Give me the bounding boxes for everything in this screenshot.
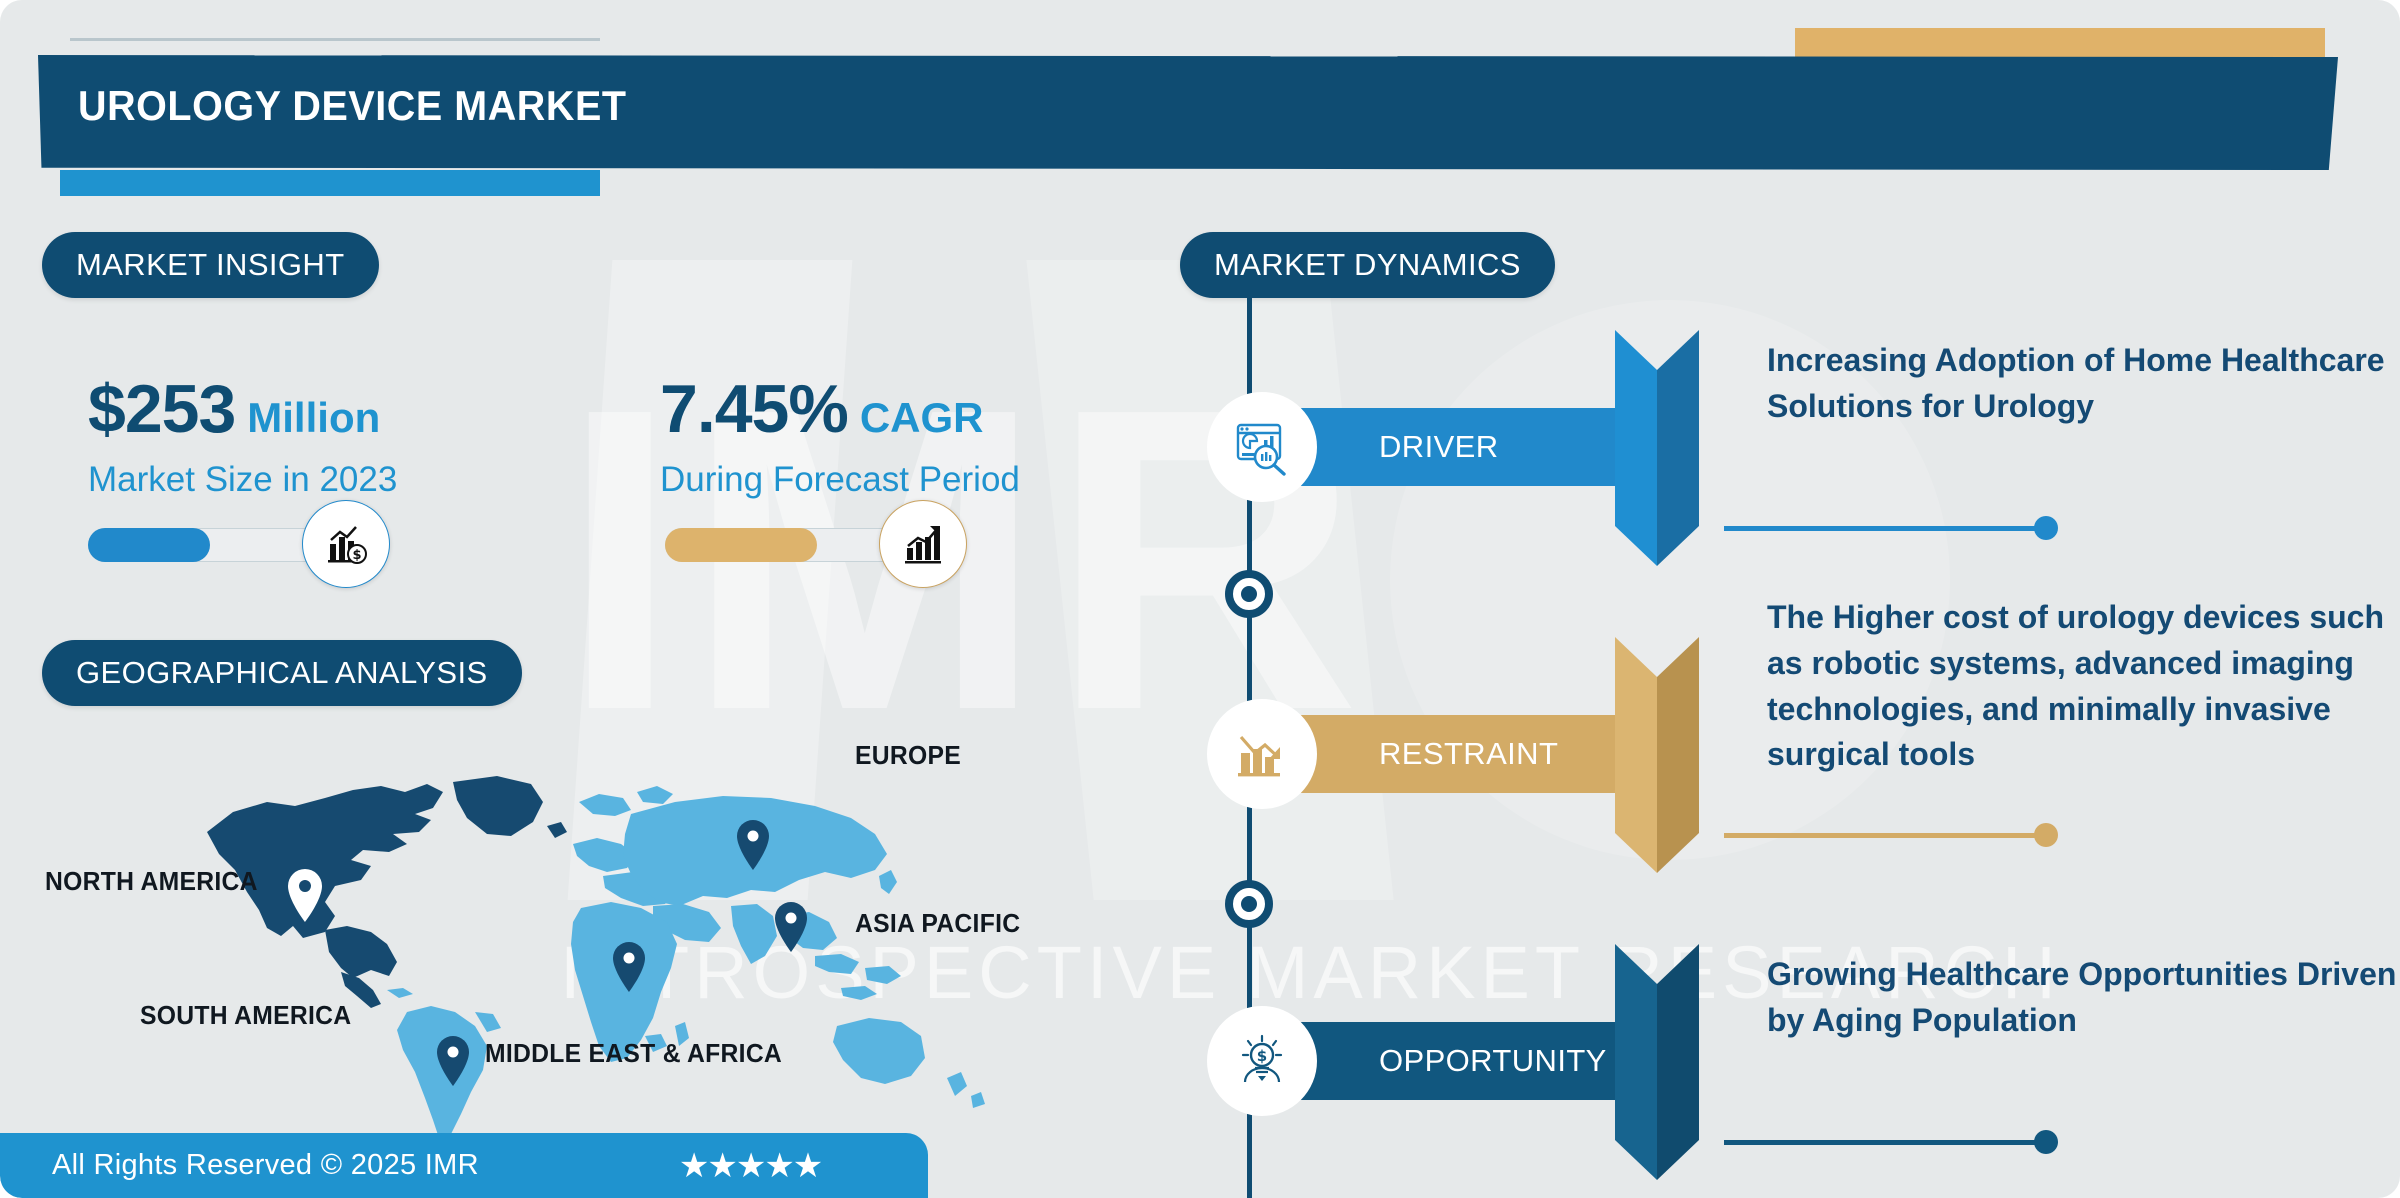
stat-subtitle: During Forecast Period [660, 460, 1020, 500]
star-rating-icon: ★★★★★ [679, 1146, 821, 1186]
restraint-label: RESTRAINT [1379, 736, 1558, 772]
spine-node-2 [1225, 880, 1273, 928]
lightbulb-dollar-icon: $ [1207, 1006, 1317, 1116]
header-gold-accent [1795, 28, 2325, 60]
driver-label: DRIVER [1379, 429, 1499, 465]
stat-value: $253 [88, 370, 235, 448]
restraint-endpoint-dot [2034, 823, 2058, 847]
market-dynamics-pill: MARKET DYNAMICS [1180, 232, 1555, 298]
stat-unit: Million [247, 394, 380, 442]
progress-fill [88, 528, 210, 562]
map-label-europe: EUROPE [855, 740, 961, 771]
header-thin-line [70, 38, 600, 41]
stat-subtitle: Market Size in 2023 [88, 460, 397, 500]
map-label-south-america: SOUTH AMERICA [140, 1000, 351, 1031]
header-blue-accent [60, 170, 600, 196]
page-title: UROLOGY DEVICE MARKET [78, 82, 627, 130]
svg-text:$: $ [1257, 1047, 1267, 1065]
market-insight-pill: MARKET INSIGHT [42, 232, 379, 298]
map-label-middle-east-africa: MIDDLE EAST & AFRICA [485, 1038, 782, 1069]
cagr-progress [665, 528, 915, 562]
stat-unit: CAGR [860, 394, 984, 442]
opportunity-stem [1724, 1140, 2054, 1145]
world-map [175, 740, 1035, 1140]
market-size-progress: $ [88, 528, 338, 562]
dashboard-analytics-search-icon [1207, 392, 1317, 502]
restraint-stem [1724, 833, 2054, 838]
geographical-analysis-pill: GEOGRAPHICAL ANALYSIS [42, 640, 522, 706]
growth-chart-arrow-icon [879, 500, 967, 588]
background-band-right [1026, 260, 1393, 900]
opportunity-chevron-icon [1615, 944, 1699, 1180]
driver-chevron-icon [1615, 330, 1699, 566]
progress-fill [665, 528, 817, 562]
opportunity-endpoint-dot [2034, 1130, 2058, 1154]
driver-endpoint-dot [2034, 516, 2058, 540]
bar-chart-dollar-icon: $ [302, 500, 390, 588]
declining-bar-chart-icon [1207, 699, 1317, 809]
infographic-canvas: IMR INTROSPECTIVE MARKET RESEARCH UROLOG… [0, 0, 2400, 1198]
copyright-text: All Rights Reserved © 2025 IMR [52, 1149, 479, 1182]
driver-text: Increasing Adoption of Home Healthcare S… [1767, 338, 2400, 430]
opportunity-label: OPPORTUNITY [1379, 1043, 1607, 1079]
map-label-north-america: NORTH AMERICA [45, 866, 258, 897]
footer-bar: All Rights Reserved © 2025 IMR ★★★★★ [0, 1133, 928, 1198]
stat-value: 7.45% [660, 370, 848, 448]
spine-node-1 [1225, 570, 1273, 618]
svg-text:$: $ [352, 548, 361, 563]
market-insight-label: MARKET INSIGHT [76, 247, 345, 283]
restraint-text: The Higher cost of urology devices such … [1767, 595, 2400, 778]
stat-cagr: 7.45%CAGR During Forecast Period [660, 370, 1020, 500]
market-dynamics-label: MARKET DYNAMICS [1214, 247, 1521, 283]
driver-stem [1724, 526, 2054, 531]
restraint-chevron-icon [1615, 637, 1699, 873]
geographical-analysis-label: GEOGRAPHICAL ANALYSIS [76, 655, 488, 691]
map-label-asia-pacific: ASIA PACIFIC [855, 908, 1020, 939]
opportunity-text: Growing Healthcare Opportunities Driven … [1767, 952, 2400, 1044]
stat-market-size: $253Million Market Size in 2023 [88, 370, 397, 500]
